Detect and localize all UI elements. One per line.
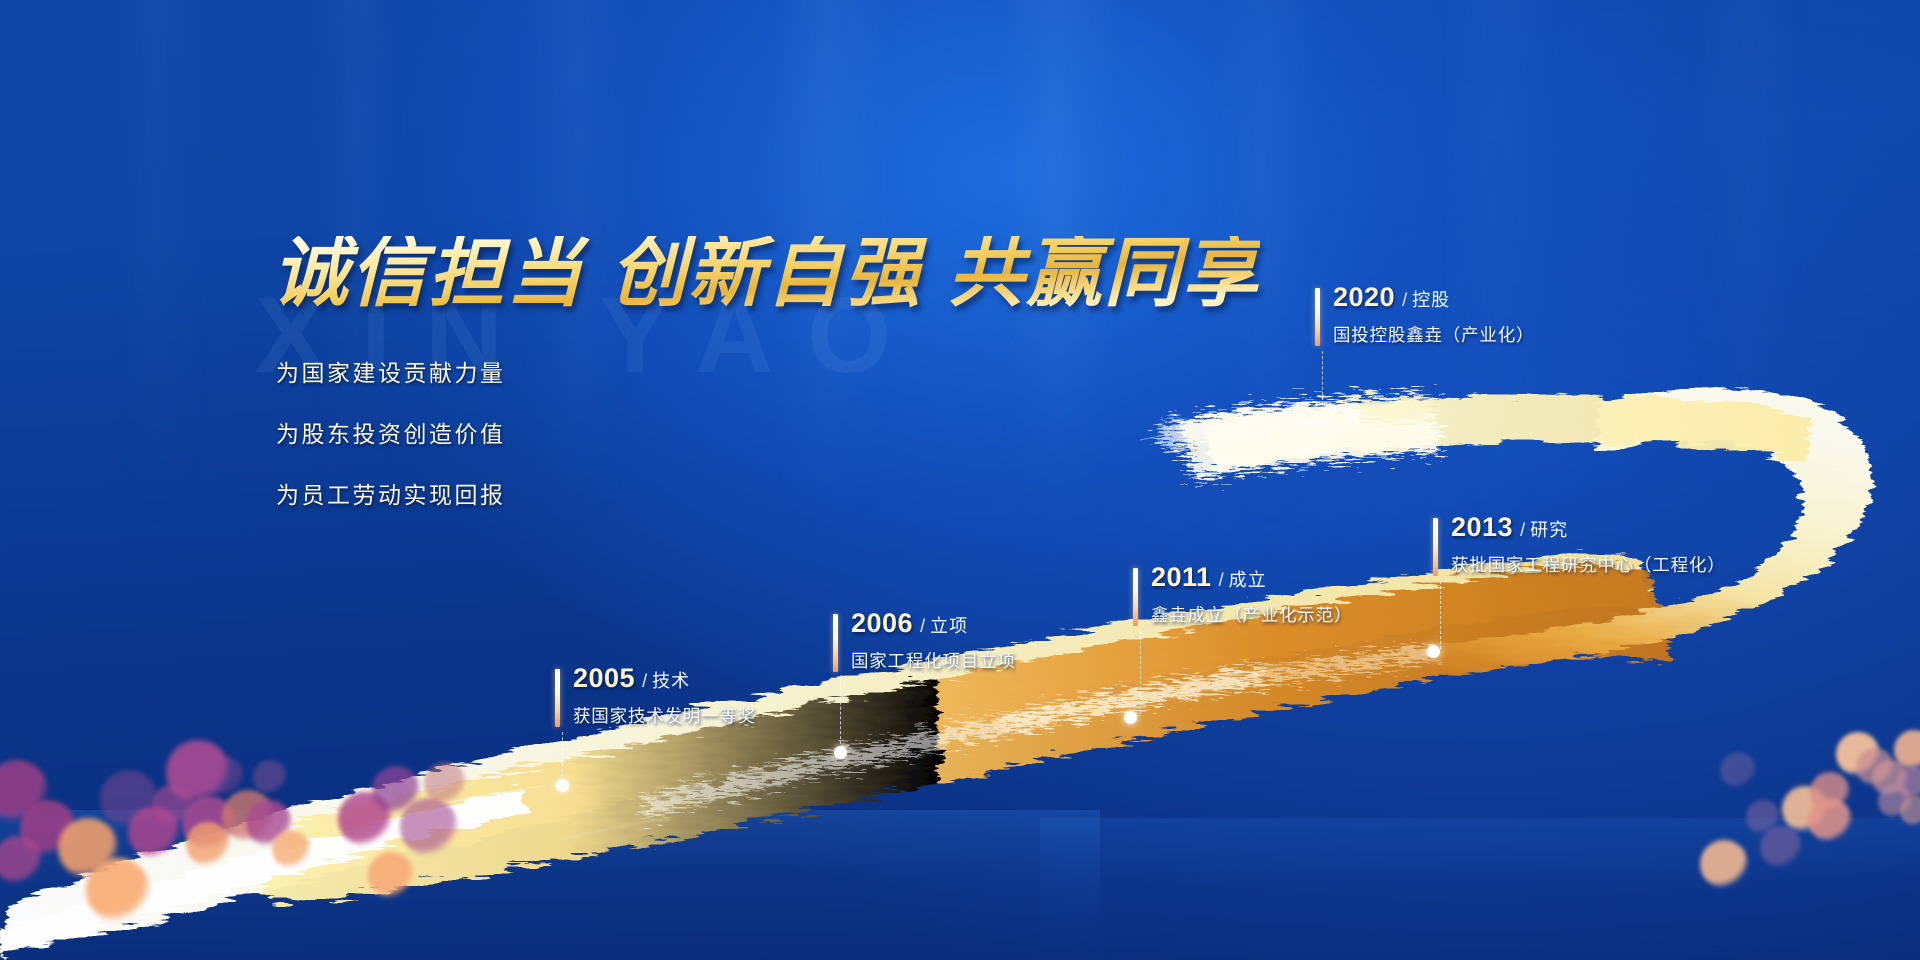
timeline-tag: 研究	[1530, 520, 1568, 540]
timeline-tag: 技术	[652, 671, 690, 691]
bokeh-light	[1878, 784, 1912, 818]
bokeh-light	[1872, 760, 1908, 796]
timeline-description: 获国家技术发明一等奖	[573, 703, 756, 728]
timeline-connector-line	[1322, 351, 1323, 405]
timeline-description: 国家工程化项目立项	[851, 648, 1016, 673]
banner-canvas: XIN YAO 诚信担当创新自强共赢同享 为国家建设贡献力量 为股东投资创造价值…	[0, 0, 1920, 960]
timeline-connector-line	[1440, 581, 1441, 649]
timeline-heading: 2013/研究	[1451, 514, 1726, 541]
page-title: 诚信担当创新自强共赢同享	[272, 236, 1260, 312]
timeline-text-block: 2006/立项国家工程化项目立项	[851, 610, 1016, 673]
bokeh-light	[246, 800, 292, 846]
timeline-heading: 2011/成立	[1151, 564, 1352, 591]
horizon-glow-left	[0, 810, 1100, 960]
timeline-marker-bar	[1133, 568, 1138, 626]
bokeh-light	[1896, 766, 1920, 800]
bokeh-light	[20, 800, 76, 856]
bokeh-light	[400, 798, 458, 856]
slogan-item: 为股东投资创造价值	[276, 415, 506, 449]
bokeh-light	[1810, 772, 1850, 812]
slogan-item: 为员工劳动实现回报	[276, 476, 506, 510]
bokeh-light	[1782, 786, 1828, 832]
bokeh-light	[424, 762, 466, 804]
timeline-node-dot[interactable]	[556, 779, 569, 792]
timeline-text-block: 2020/控股国投控股鑫垚（产业化）	[1333, 284, 1534, 347]
timeline-marker-bar	[1433, 518, 1438, 576]
bokeh-light	[253, 760, 287, 794]
bokeh-light	[1900, 796, 1920, 826]
timeline-text-block: 2013/研究获批国家工程研究中心（工程化）	[1451, 514, 1726, 577]
slogan-list: 为国家建设贡献力量 为股东投资创造价值 为员工劳动实现回报	[276, 354, 506, 537]
bokeh-light	[166, 740, 230, 804]
timeline-connector-line	[1140, 631, 1141, 714]
timeline-year: 2005	[573, 663, 635, 693]
bokeh-light	[86, 858, 150, 922]
timeline-year: 2013	[1451, 512, 1513, 542]
bokeh-light	[182, 796, 236, 850]
timeline-heading: 2020/控股	[1333, 284, 1534, 311]
timeline-separator: /	[1402, 290, 1407, 310]
timeline-year: 2020	[1333, 282, 1395, 312]
slogan-item: 为国家建设贡献力量	[276, 354, 506, 388]
timeline-text-block: 2011/成立鑫垚成立（产业化示范）	[1151, 564, 1352, 627]
bokeh-light	[128, 806, 180, 858]
bokeh-light	[1720, 752, 1756, 788]
headline-segment-2: 创新自强	[610, 231, 922, 316]
timeline-node-dot[interactable]	[1427, 645, 1440, 658]
timeline-node-dot[interactable]	[1124, 711, 1137, 724]
bokeh-light	[1856, 748, 1894, 786]
bokeh-light	[58, 818, 118, 878]
timeline-description: 国投控股鑫垚（产业化）	[1333, 322, 1534, 347]
timeline-heading: 2006/立项	[851, 610, 1016, 637]
bokeh-light	[272, 830, 310, 868]
bokeh-light	[338, 792, 392, 846]
timeline-text-block: 2005/技术获国家技术发明一等奖	[573, 665, 756, 728]
bokeh-light	[1700, 840, 1748, 888]
timeline-separator: /	[642, 671, 647, 691]
timeline-tag: 控股	[1412, 290, 1450, 310]
timeline-node-dot[interactable]	[834, 746, 847, 759]
timeline-connector-line	[562, 732, 563, 782]
bokeh-light	[1746, 800, 1780, 834]
bokeh-light	[186, 822, 230, 866]
horizon-glow-right	[1040, 818, 1920, 960]
bokeh-light	[372, 766, 420, 814]
bokeh-light	[368, 852, 414, 898]
bokeh-light	[204, 756, 244, 796]
timeline-marker-bar	[1315, 288, 1320, 346]
bokeh-light	[152, 784, 194, 826]
timeline-marker-bar	[555, 669, 560, 727]
timeline-description: 鑫垚成立（产业化示范）	[1151, 602, 1352, 627]
timeline-tag: 成立	[1229, 570, 1267, 590]
bokeh-light	[222, 790, 274, 842]
bokeh-light	[0, 760, 48, 822]
timeline-separator: /	[1219, 570, 1224, 590]
headline-segment-3: 共赢同享	[948, 231, 1260, 316]
timeline-heading: 2005/技术	[573, 665, 756, 692]
bokeh-light	[1760, 826, 1802, 868]
headline-segment-1: 诚信担当	[272, 231, 584, 316]
timeline-tag: 立项	[930, 616, 968, 636]
bokeh-light	[1836, 732, 1880, 776]
bokeh-light	[0, 836, 42, 884]
timeline-separator: /	[920, 616, 925, 636]
timeline-connector-line	[840, 677, 841, 749]
bokeh-light	[1894, 730, 1920, 770]
bokeh-light	[1808, 798, 1852, 842]
timeline-marker-bar	[833, 614, 838, 672]
timeline-year: 2011	[1151, 562, 1212, 592]
timeline-separator: /	[1520, 520, 1525, 540]
bokeh-light	[100, 770, 158, 828]
timeline-description: 获批国家工程研究中心（工程化）	[1451, 552, 1726, 577]
timeline-year: 2006	[851, 608, 913, 638]
